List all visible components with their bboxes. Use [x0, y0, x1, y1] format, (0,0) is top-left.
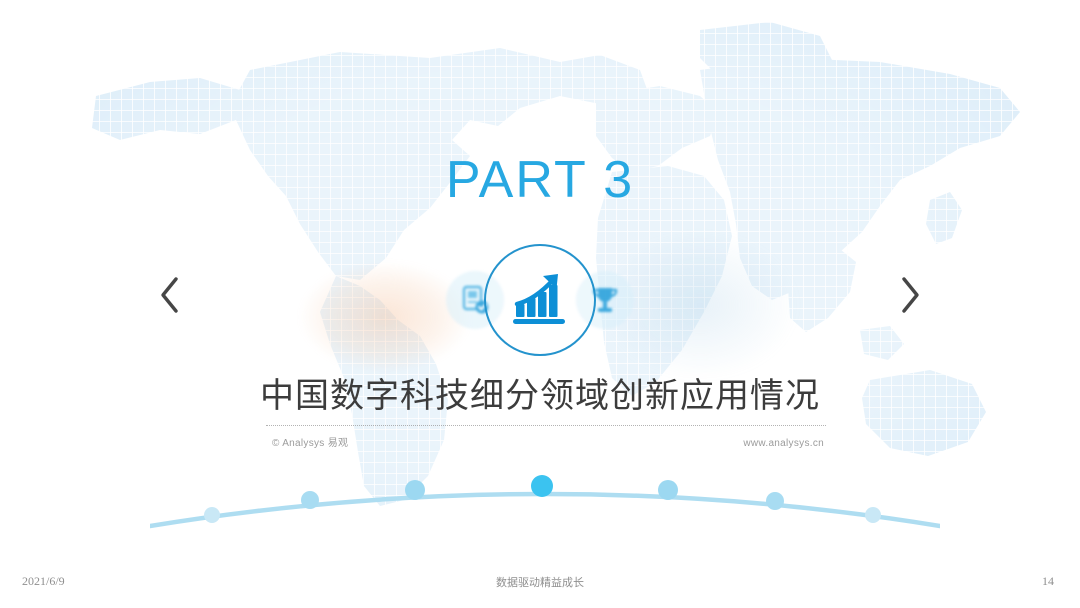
bar-chart-growth-icon	[484, 244, 596, 356]
pagination-dot	[301, 491, 319, 509]
part-label: PART 3	[0, 150, 1080, 210]
arc-line	[150, 494, 940, 526]
pagination-dot	[658, 480, 678, 500]
slide-root: PART 3	[0, 0, 1080, 608]
website-label[interactable]: www.analysys.cn	[743, 438, 824, 449]
footer-slogan: 数据驱动精益成长	[0, 574, 1080, 590]
chevron-left-icon[interactable]	[148, 272, 192, 318]
pagination-dot	[766, 492, 784, 510]
page-title: 中国数字科技细分领域创新应用情况	[0, 368, 1080, 417]
pagination-dot	[865, 507, 881, 523]
footer-page-number: 14	[1042, 574, 1054, 589]
footer-bar: 2021/6/9 数据驱动精益成长 14	[0, 574, 1080, 596]
copyright-label: © Analysys 易观	[272, 434, 348, 449]
credit-row: © Analysys 易观 www.analysys.cn	[272, 434, 824, 449]
title-divider	[266, 425, 826, 427]
pagination-dot	[204, 507, 220, 523]
pagination-dot-active	[531, 475, 553, 497]
chevron-right-icon[interactable]	[888, 272, 932, 318]
pagination-arc	[150, 460, 940, 550]
pagination-dot	[405, 480, 425, 500]
